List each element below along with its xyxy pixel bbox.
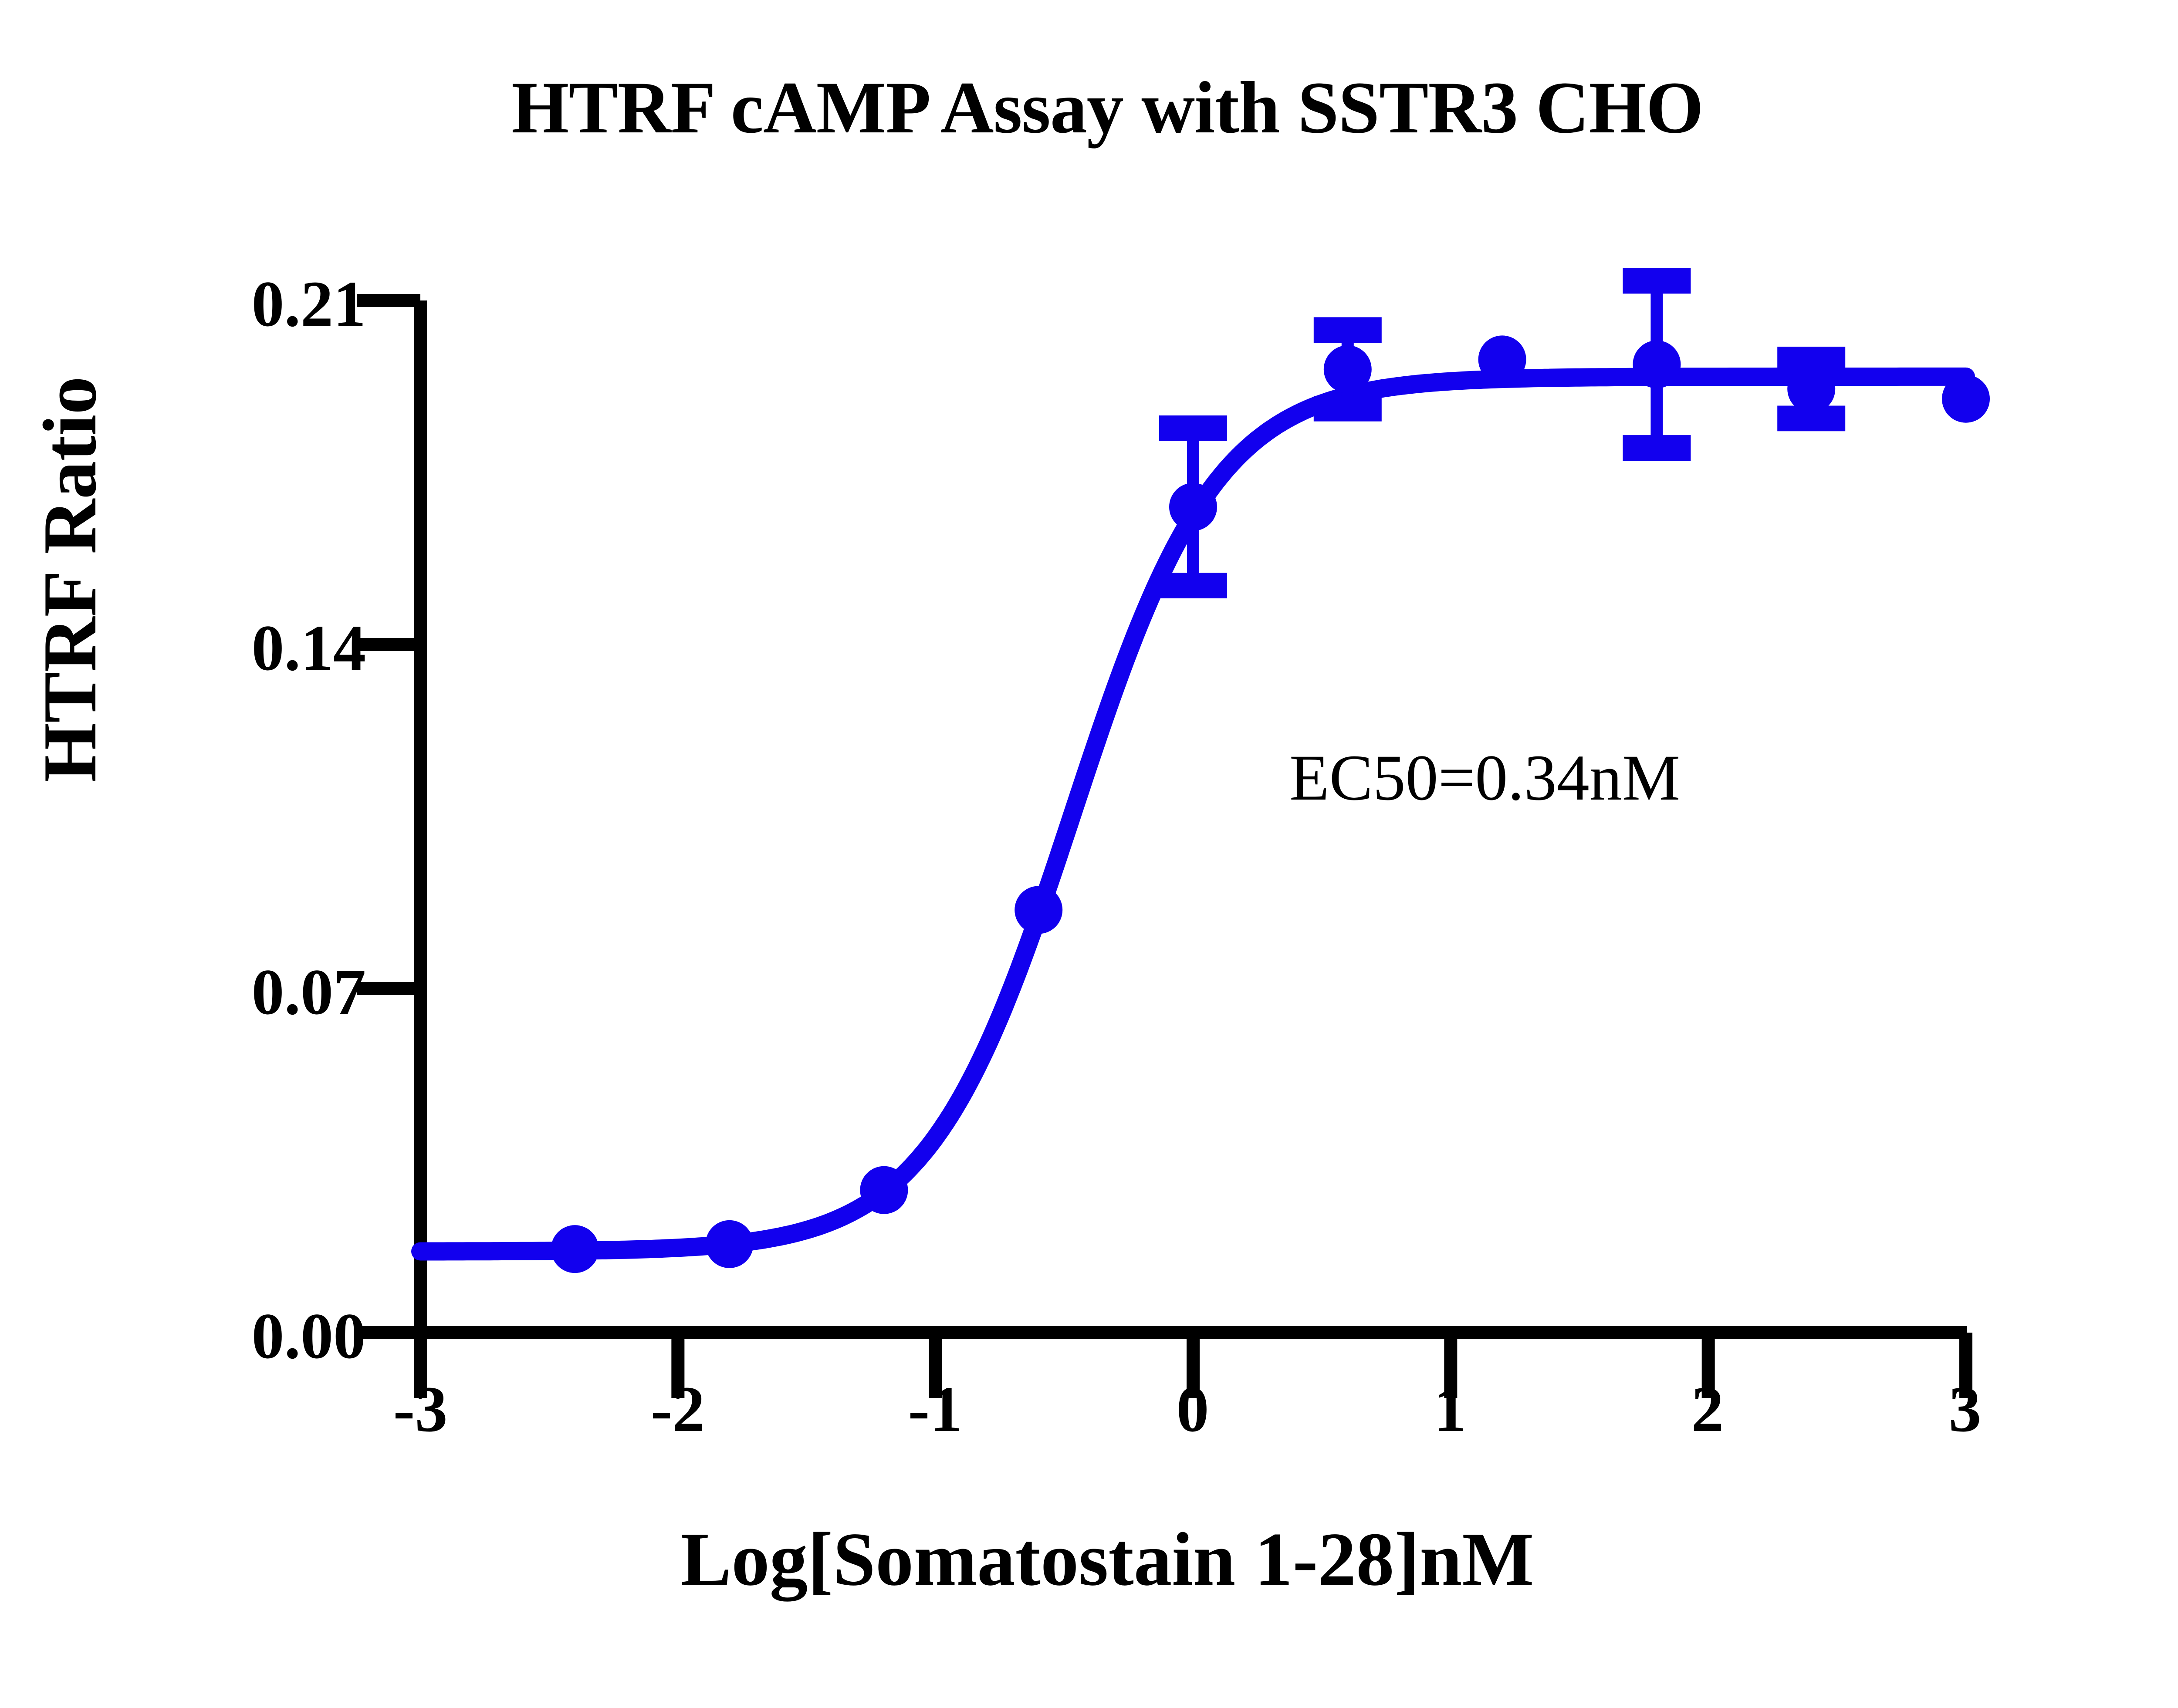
data-point-3 (1015, 886, 1062, 934)
data-point-6 (1478, 335, 1526, 383)
x-tick-marks (420, 1333, 1966, 1398)
data-point-1 (706, 1220, 754, 1268)
chart-canvas: HTRF cAMP Assay with SSTR3 CHO HTRF Rati… (0, 0, 2178, 1708)
axis-group (357, 300, 1967, 1398)
data-point-2 (860, 1166, 908, 1214)
data-point-8 (1787, 365, 1835, 413)
y-tick-marks (357, 300, 420, 1333)
data-point-7 (1633, 341, 1681, 388)
data-points-group (551, 335, 1990, 1273)
data-point-9 (1942, 375, 1990, 423)
data-point-5 (1324, 345, 1372, 393)
plot-area (0, 0, 2178, 1708)
data-point-4 (1169, 483, 1217, 531)
data-series-group (420, 281, 1990, 1273)
data-point-0 (551, 1225, 599, 1273)
